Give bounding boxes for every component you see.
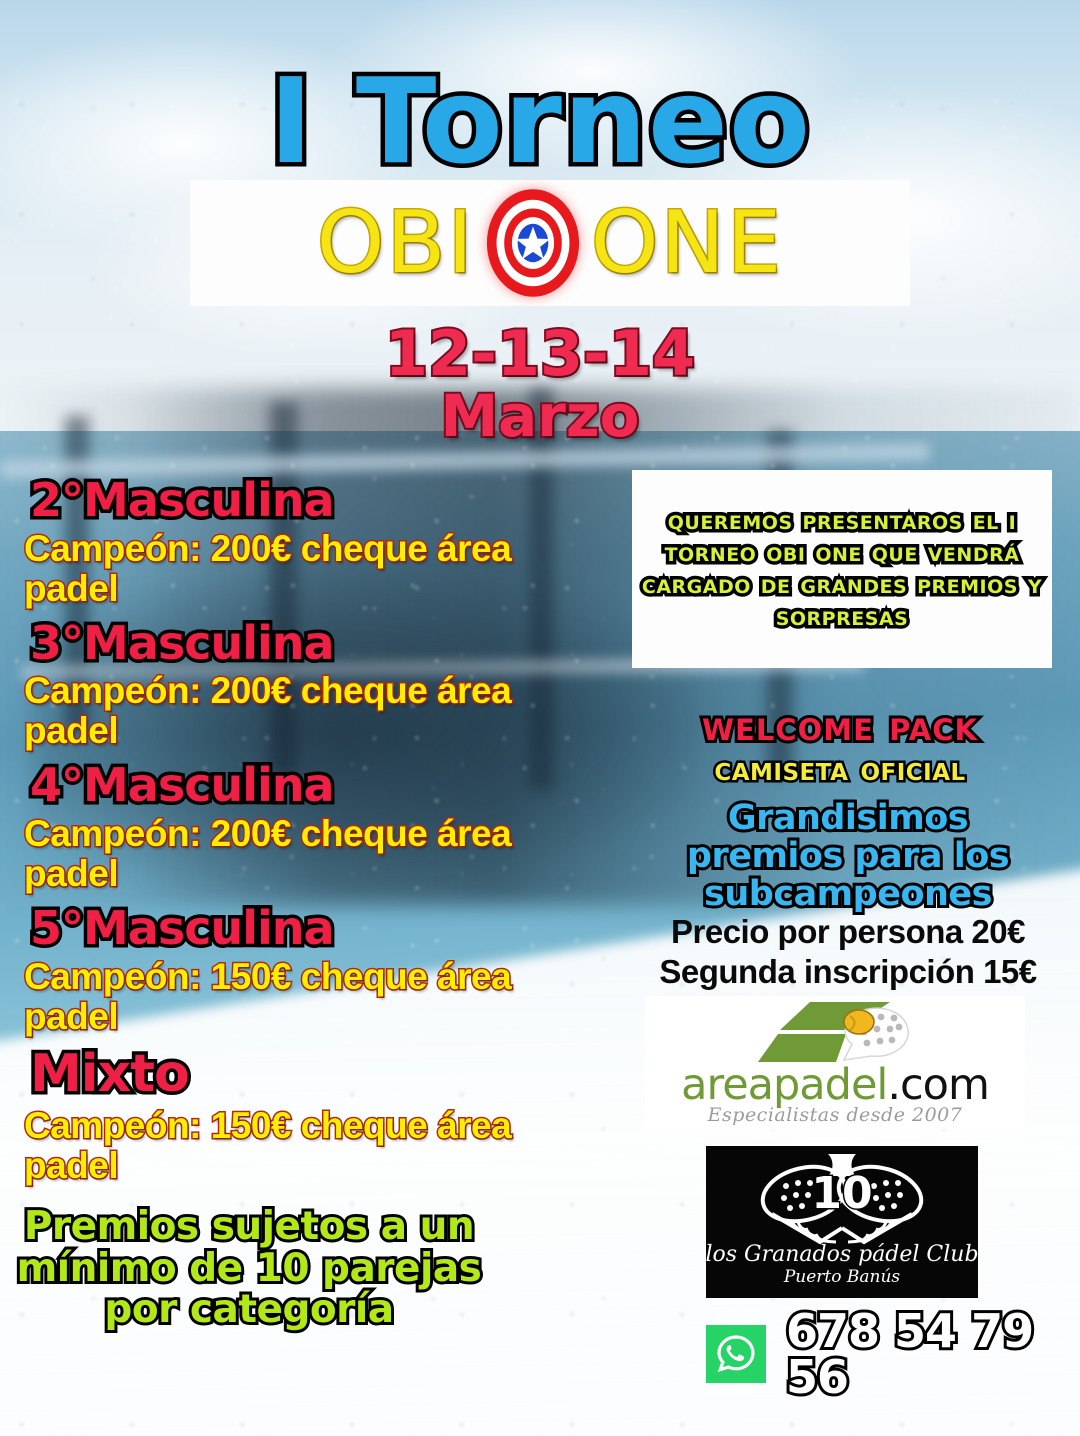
tournament-poster: I Torneo OBI ONE 12-13-14 Marzo 2°Mascul… (0, 0, 1080, 1436)
category-name: 4°Masculina (30, 761, 594, 810)
granados-club-name: los Granados pádel Club (706, 1244, 978, 1266)
contact-phone-number[interactable]: 678 54 79 56 (786, 1308, 1056, 1400)
event-dates: 12-13-14 Marzo (0, 322, 1080, 446)
sponsor-granados[interactable]: 10 los Granados pádel Club Puerto Banús (706, 1146, 978, 1298)
category-block: 4°Masculina Campeón: 200€ cheque área pa… (14, 761, 594, 894)
price-per-person: Precio por persona 20€ (648, 912, 1048, 952)
category-prize: Campeón: 200€ cheque área padel (24, 529, 594, 609)
welcome-pack-subtitle: Camiseta Oficial (630, 752, 1050, 785)
pricing-block: Precio por persona 20€ Segunda inscripci… (648, 912, 1048, 991)
category-block: 3°Masculina Campeón: 200€ cheque área pa… (14, 619, 594, 752)
intro-panel-text: Queremos presentaros el I Torneo Obi one… (632, 470, 1052, 668)
minimum-pairs-note: Premios sujetos a un mínimo de 10 pareja… (14, 1206, 484, 1331)
areapadel-tagline: Especialistas desde 2007 (708, 1104, 963, 1126)
brand-text-left: OBI (317, 200, 475, 286)
areapadel-name-green: areapadel (681, 1060, 887, 1110)
areapadel-wordmark: areapadel.com (681, 1064, 989, 1107)
whatsapp-contact[interactable]: 678 54 79 56 (706, 1308, 1056, 1400)
whatsapp-icon[interactable] (706, 1325, 766, 1383)
category-name: 5°Masculina (30, 904, 594, 953)
sponsor-areapadel[interactable]: areapadel.com Especialistas desde 2007 (645, 996, 1025, 1129)
category-prize: Campeón: 200€ cheque área padel (24, 671, 594, 751)
category-block: Mixto Campeón: 150€ cheque área padel (14, 1047, 594, 1186)
category-block: 2°Masculina Campeón: 200€ cheque área pa… (14, 476, 594, 609)
category-name: 3°Masculina (30, 619, 594, 668)
areapadel-name-tld: .com (887, 1060, 989, 1110)
areapadel-racket-icon (740, 1000, 930, 1068)
brand-text-right: ONE (591, 200, 783, 286)
granados-crest-icon: 10 (742, 1150, 942, 1248)
poster-title: I Torneo (0, 62, 1080, 180)
granados-number: 10 (811, 1168, 872, 1219)
event-dates-month: Marzo (0, 387, 1080, 446)
category-block: 5°Masculina Campeón: 150€ cheque área pa… (14, 904, 594, 1037)
runners-up-prizes-text: Grandisimos premios para los subcampeone… (648, 800, 1048, 913)
category-prize: Campeón: 200€ cheque área padel (24, 814, 594, 894)
categories-list: 2°Masculina Campeón: 200€ cheque área pa… (14, 476, 594, 1196)
captain-america-shield-icon (485, 187, 581, 299)
event-dates-days: 12-13-14 (385, 317, 695, 390)
brand-banner: OBI ONE (190, 180, 910, 306)
category-name: Mixto (30, 1047, 594, 1102)
granados-location: Puerto Banús (784, 1269, 900, 1286)
category-prize: Campeón: 150€ cheque área padel (24, 957, 594, 1037)
welcome-pack-title: Welcome Pack (630, 706, 1050, 748)
category-name: 2°Masculina (30, 476, 594, 525)
category-prize: Campeón: 150€ cheque área padel (24, 1106, 594, 1186)
price-second-registration: Segunda inscripción 15€ (648, 952, 1048, 992)
